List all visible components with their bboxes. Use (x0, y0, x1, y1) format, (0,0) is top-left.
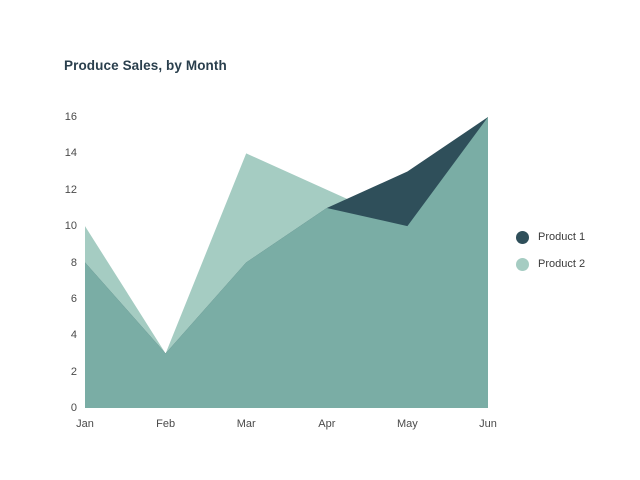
legend-item-product-1[interactable]: Product 1 (516, 226, 626, 248)
legend-circle-marker-icon (516, 231, 529, 244)
x-tick-label: Jun (479, 418, 497, 430)
chart-legend: Product 1 Product 2 (516, 226, 626, 280)
x-tick-label: Mar (237, 418, 256, 430)
x-tick-label: Apr (318, 418, 335, 430)
legend-circle-marker-icon (516, 258, 529, 271)
legend-item-product-2[interactable]: Product 2 (516, 253, 626, 275)
legend-item-label: Product 1 (538, 231, 585, 243)
x-tick-label: Feb (156, 418, 175, 430)
x-tick-label: May (397, 418, 418, 430)
x-tick-label: Jan (76, 418, 94, 430)
chart-container: Produce Sales, by Month 16 14 12 10 8 6 … (0, 0, 640, 480)
legend-item-label: Product 2 (538, 258, 585, 270)
